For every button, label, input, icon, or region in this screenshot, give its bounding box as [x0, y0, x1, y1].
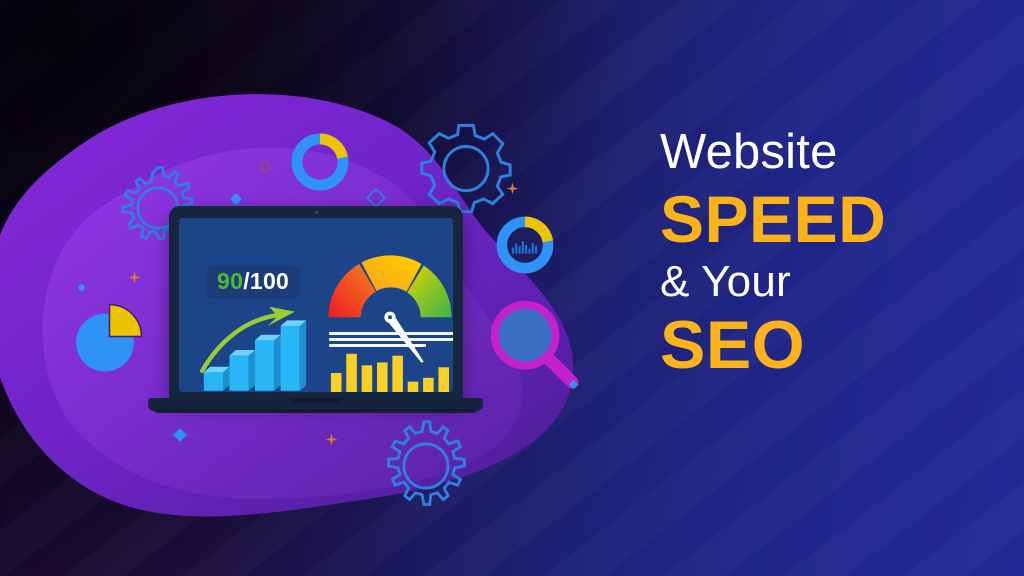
sparkle-orange-c-decoration	[324, 432, 339, 447]
speed-gauge-chart	[315, 234, 453, 324]
diamond-mid-decoration	[567, 378, 580, 391]
score-badge: 90/100	[206, 265, 300, 299]
sparkle-orange-a-decoration	[127, 270, 142, 285]
laptop-lid: 90/100	[169, 206, 463, 401]
growth-bar-chart	[199, 310, 311, 392]
headline-line-speed: SPEED	[660, 186, 1010, 252]
headline-line-website: Website	[660, 128, 1010, 177]
poster-canvas: 90/100	[0, 0, 1024, 576]
donut-chart-with-bars-decoration	[492, 212, 558, 278]
laptop-camera	[315, 211, 318, 214]
ring-small-decoration	[258, 160, 272, 174]
score-value: 90	[217, 268, 243, 294]
headline-line-seo: SEO	[660, 311, 1010, 379]
gear-outline-top-icon	[420, 118, 512, 210]
gear-outline-bottom-icon	[376, 418, 472, 514]
square-outline-decoration	[367, 189, 385, 207]
donut-chart-top-decoration	[288, 130, 352, 194]
score-total: /100	[243, 268, 289, 294]
sparkle-orange-b-decoration	[505, 181, 520, 196]
headline-block: Website SPEED & Your SEO	[660, 128, 1010, 379]
text-line-1	[329, 332, 453, 335]
laptop-illustration: 90/100	[148, 206, 483, 418]
text-line-3	[329, 344, 426, 347]
text-line-2	[329, 338, 453, 341]
traffic-histogram-chart	[329, 348, 453, 392]
laptop-screen: 90/100	[179, 218, 453, 392]
laptop-base-notch	[290, 398, 342, 403]
diamond-top-decoration	[229, 192, 243, 206]
pie-chart-decoration	[70, 300, 146, 376]
diamond-bottom-decoration	[172, 427, 188, 443]
dot-blue-decoration	[76, 282, 87, 293]
headline-line-and-your: & Your	[660, 260, 1010, 304]
laptop-base-shadow	[154, 409, 477, 413]
